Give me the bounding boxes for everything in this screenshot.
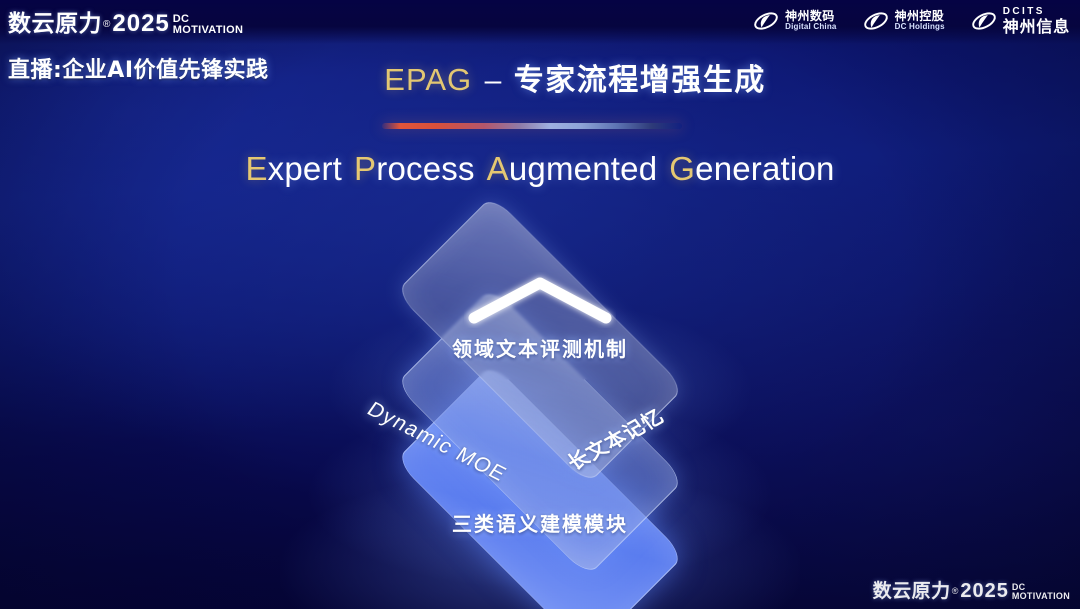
slide-canvas: 领域文本评测机制 Dynamic MOE 长文本记忆 三类语义建模模块 数云原力… [0,0,1080,609]
partner-logo-digital-china: 神州数码 Digital China [753,8,837,34]
slide-title-dash: – [485,64,502,97]
subtitle-cap: A [487,150,509,187]
subtitle-rest: xpert [268,150,342,187]
subtitle-word-augmented: Augmented [487,150,658,187]
partner-logo-text: 神州数码 Digital China [785,10,837,32]
partner-logo-text: DCITS 神州信息 [1003,7,1070,35]
diagram-layer-top-label: 领域文本评测机制 [452,333,628,362]
subtitle-rest: eneration [695,150,834,187]
subtitle-word-process: Process [354,150,475,187]
brand-year: 2025 [112,10,169,38]
subtitle-rest: rocess [376,150,474,187]
brand-dc-line2: MOTIVATION [173,25,243,36]
partner-name-cn: 神州信息 [1003,18,1070,35]
partner-logo-text: 神州控股 DC Holdings [895,10,945,32]
subtitle-cap: E [245,150,267,187]
subtitle-word-expert: Expert [245,150,342,187]
subtitle-rest: ugmented [509,150,657,187]
brand-dc-motivation: DC MOTIVATION [173,14,243,36]
brand-name-cn: 数云原力 [8,4,102,38]
brand-watermark: 数云原力 ® 2025 DC MOTIVATION [873,576,1070,603]
subtitle-word-generation: Generation [669,150,834,187]
registered-mark-icon: ® [952,586,959,596]
slide-title-acronym: EPAG [384,62,472,97]
subtitle-cap: G [669,150,695,187]
chevron-up-icon [464,272,616,333]
partner-logo-group: 神州数码 Digital China 神州控股 DC Holdings [753,7,1070,35]
brand-name-cn: 数云原力 [873,576,951,603]
diagram-layer-bottom-label: 三类语义建模模块 [452,508,628,537]
partner-name-en: Digital China [785,23,837,32]
slide-title-chinese: 专家流程增强生成 [514,63,766,98]
swirl-logo-icon [971,8,997,34]
partner-name-en: DC Holdings [895,23,945,32]
slide-subtitle: ExpertProcessAugmentedGeneration [0,150,1080,188]
brand-dc-line2: MOTIVATION [1012,592,1070,601]
event-brand-logo: 数云原力 ® 2025 DC MOTIVATION [8,4,243,38]
partner-logo-dcits: DCITS 神州信息 [971,7,1070,35]
swirl-logo-icon [753,8,779,34]
swirl-logo-icon [863,8,889,34]
title-divider-bar [382,123,682,129]
livestream-label: 直播:企业AI价值先锋实践 [8,52,269,84]
brand-year: 2025 [960,580,1009,603]
brand-dc-motivation: DC MOTIVATION [1012,583,1070,601]
subtitle-cap: P [354,150,376,187]
registered-mark-icon: ® [103,19,110,30]
partner-logo-dc-holdings: 神州控股 DC Holdings [863,8,945,34]
